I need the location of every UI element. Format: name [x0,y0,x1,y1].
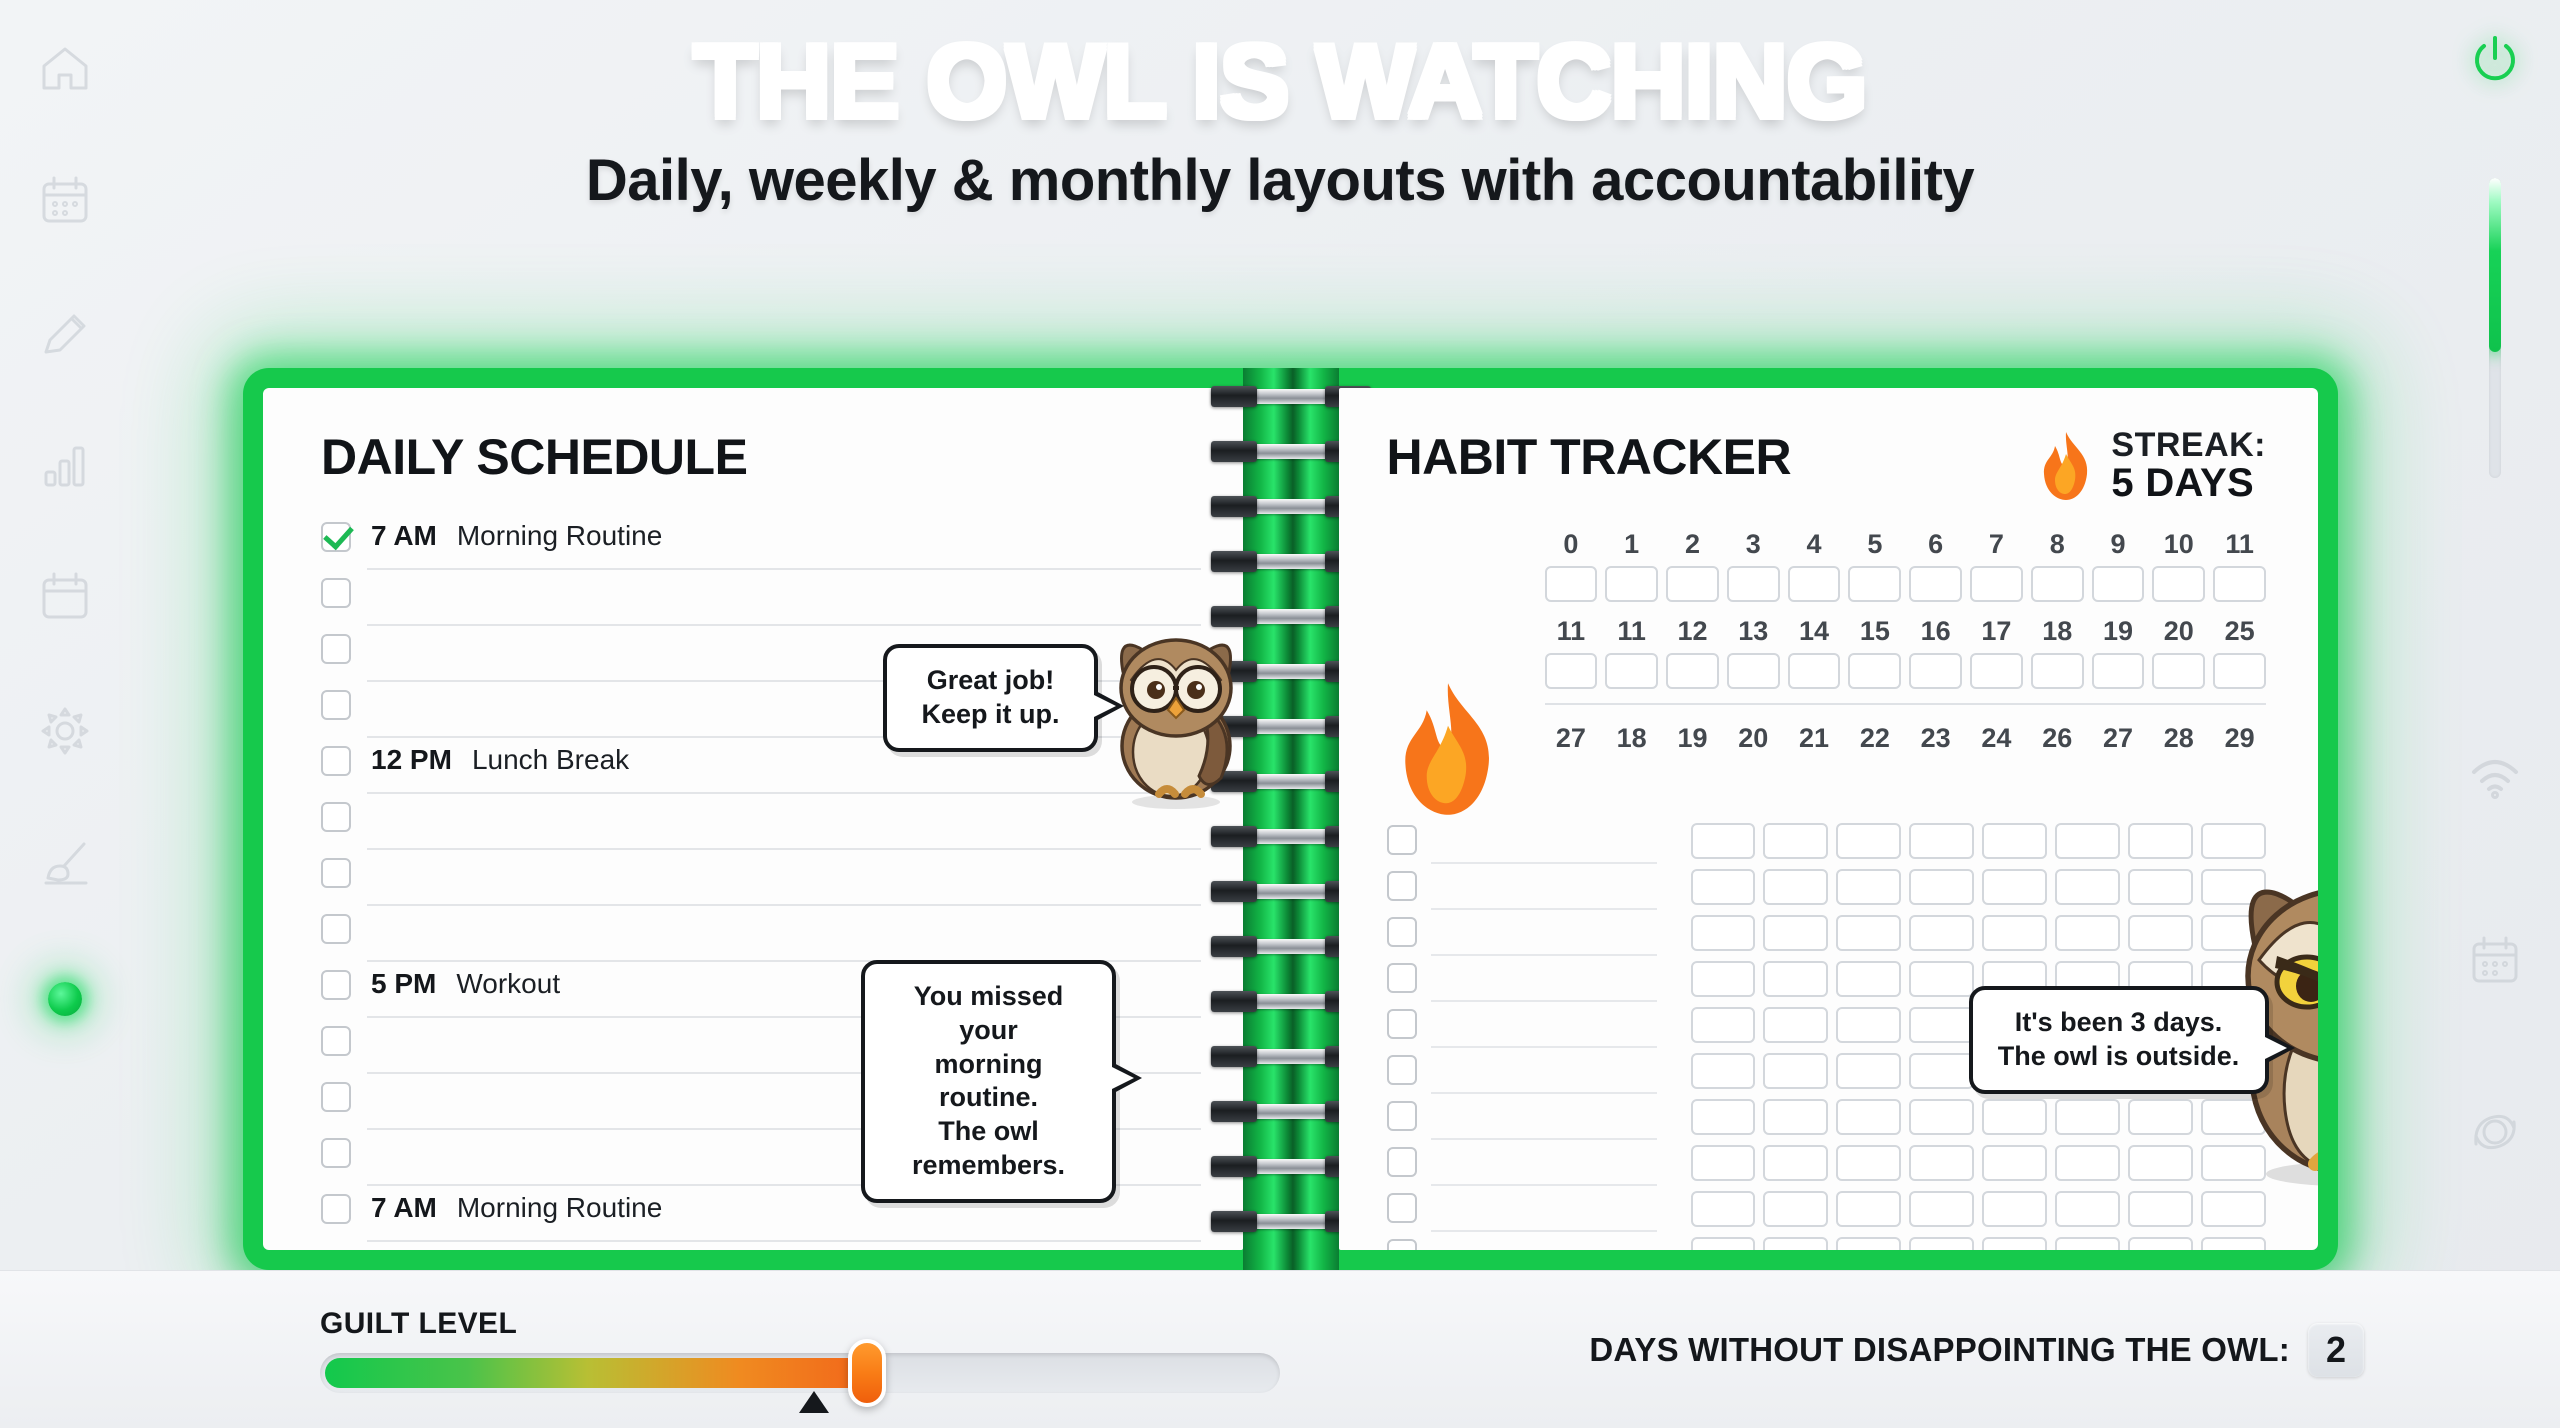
habit-row-checkbox[interactable] [1387,963,1417,993]
habit-checkbox[interactable] [1982,1099,2047,1135]
habit-rule-line [1431,954,1657,956]
habit-checkbox[interactable] [1691,869,1756,905]
habit-checkbox[interactable] [1909,1053,1974,1089]
schedule-task: Morning Routine [457,520,662,552]
habit-checkbox[interactable] [1970,566,2023,602]
habit-day-number: 12 [1666,616,1719,647]
schedule-checkbox[interactable] [321,1026,351,1056]
habit-label-row[interactable] [1387,869,1657,915]
habit-checkbox[interactable] [1909,1237,1974,1250]
schedule-checkbox[interactable] [321,746,351,776]
schedule-row[interactable] [321,576,1201,632]
habit-checkbox[interactable] [1691,1053,1756,1089]
habit-row-checkbox[interactable] [1387,871,1417,901]
schedule-checkbox[interactable] [321,634,351,664]
schedule-row[interactable]: 7 AMMorning Routine [321,520,1201,576]
habit-checkbox[interactable] [1836,915,1901,951]
habit-checkbox[interactable] [2092,566,2145,602]
schedule-task: Workout [456,968,560,1000]
habit-day-number: 7 [1970,529,2023,560]
habit-checkbox[interactable] [1836,823,1901,859]
calendar-icon[interactable] [34,170,96,232]
schedule-checkbox[interactable] [321,690,351,720]
habit-label-row[interactable] [1387,1099,1657,1145]
title-part-1: THE [693,24,926,140]
brush-icon[interactable] [34,830,96,892]
habit-row1-numbers: 01234567891011 [1545,529,2267,560]
schedule-checkbox[interactable] [321,1082,351,1112]
habit-checkbox[interactable] [1848,566,1901,602]
habit-checkbox[interactable] [1605,566,1658,602]
habit-checkbox[interactable] [1545,566,1598,602]
habit-day-number: 13 [1727,616,1780,647]
habit-checkbox[interactable] [2152,566,2205,602]
owl-bubble-scold: You missed your morning routine. The owl… [861,960,1116,1203]
habit-day-number: 20 [2152,616,2205,647]
guilt-slider-marker [799,1391,829,1413]
schedule-checkbox[interactable] [321,1138,351,1168]
habit-day-number: 1 [1605,529,1658,560]
schedule-rule-line [367,792,1201,794]
schedule-rule-line [367,1240,1201,1242]
page-subtitle: Daily, weekly & monthly layouts with acc… [130,147,2430,214]
habit-checkbox[interactable] [2055,823,2120,859]
habit-day-number: 23 [1909,723,1962,754]
habit-checkbox[interactable] [2055,1237,2120,1250]
pencil-icon[interactable] [34,302,96,364]
habit-row-checkbox[interactable] [1387,917,1417,947]
schedule-checkbox[interactable] [321,578,351,608]
habit-rule-line [1431,908,1657,910]
brightness-slider[interactable] [2489,178,2501,478]
habit-checkbox[interactable] [2128,1191,2193,1227]
schedule-rule-line [367,624,1201,626]
habit-day-number: 11 [2213,529,2266,560]
habit-grid-row [1691,915,2267,951]
schedule-rule-line [367,568,1201,570]
habit-checkbox[interactable] [2201,1191,2266,1227]
habit-day-number: 19 [2092,616,2145,647]
habit-checkbox[interactable] [2128,1099,2193,1135]
habit-checkbox[interactable] [1763,1099,1828,1135]
calendar-blank-icon[interactable] [34,566,96,628]
guilt-level-control[interactable]: GUILT LEVEL [320,1307,1280,1393]
guilt-slider-thumb[interactable] [848,1339,886,1407]
habit-day-number: 8 [2031,529,2084,560]
streak-badge: STREAK: 5 DAYS [2035,428,2266,503]
wifi-icon[interactable] [2464,746,2526,808]
habit-checkbox[interactable] [1909,961,1974,997]
habit-checkbox[interactable] [2128,1237,2193,1250]
schedule-checkbox[interactable] [321,802,351,832]
home-icon[interactable] [34,38,96,100]
habit-day-number: 22 [1848,723,1901,754]
habit-day-number: 6 [1909,529,1962,560]
habit-checkbox[interactable] [1982,1237,2047,1250]
habit-checkbox[interactable] [1691,823,1756,859]
habit-row3-numbers: 271819202122232426272829 [1545,723,2267,754]
habit-label-row[interactable] [1387,823,1657,869]
habit-checkbox[interactable] [1763,1237,1828,1250]
habit-day-number: 24 [1970,723,2023,754]
habit-grid-row [1691,1237,2267,1250]
habit-grid-row [1691,869,2267,905]
habit-row-checkbox[interactable] [1387,1101,1417,1131]
brightness-slider-fill [2489,178,2501,352]
schedule-rule-line [367,904,1201,906]
calendar-icon[interactable] [2464,930,2526,992]
habit-divider [1545,703,2267,705]
habit-row1-boxes [1545,566,2267,602]
habit-checkbox[interactable] [2213,566,2266,602]
daily-schedule-page: DAILY SCHEDULE 7 AMMorning Routine12 PML… [263,388,1243,1250]
habit-checkbox[interactable] [2055,869,2120,905]
schedule-checkbox[interactable] [321,858,351,888]
habit-day-number: 25 [2213,616,2266,647]
habit-checkbox[interactable] [1666,653,1719,689]
schedule-checkbox[interactable] [321,1194,351,1224]
habit-checkbox[interactable] [1691,1191,1756,1227]
habit-checkbox[interactable] [1691,1237,1756,1250]
habit-checkbox[interactable] [2128,823,2193,859]
page-title: THE OWL IS WATCHING [130,28,2430,137]
habit-checkbox[interactable] [2128,915,2193,951]
status-led [48,982,82,1016]
left-sidebar [0,0,130,1428]
schedule-time: 7 AM [371,1192,437,1224]
habit-row-checkbox[interactable] [1387,1193,1417,1223]
habit-day-number: 10 [2152,529,2205,560]
schedule-checkbox[interactable] [321,914,351,944]
habit-day-number: 4 [1788,529,1841,560]
schedule-time: 7 AM [371,520,437,552]
habit-day-number: 28 [2152,723,2205,754]
habit-rule-line [1431,1046,1657,1048]
habit-flame-column [1387,529,1509,819]
habit-checkbox[interactable] [1836,1145,1901,1181]
bottom-bar: GUILT LEVEL DAYS WITHOUT DISAPPOINTING T… [0,1270,2560,1428]
habit-grid-row [1691,823,2267,859]
gear-icon[interactable] [34,700,96,762]
habit-checkbox[interactable] [1763,915,1828,951]
days-counter-label: DAYS WITHOUT DISAPPOINTING THE OWL: [1589,1331,2290,1369]
flame-icon-large [1388,679,1508,819]
habit-checkbox[interactable] [1909,1191,1974,1227]
habit-day-number: 29 [2213,723,2266,754]
habit-checkbox[interactable] [2031,566,2084,602]
habit-day-number: 9 [2092,529,2145,560]
habit-label-lines [1387,823,1657,1250]
days-counter-value: 2 [2308,1323,2364,1377]
habit-checkbox[interactable] [1763,1053,1828,1089]
schedule-checkbox[interactable] [321,970,351,1000]
habit-checkbox[interactable] [1982,915,2047,951]
schedule-time: 5 PM [371,968,436,1000]
habit-rule-line [1431,1184,1657,1186]
habit-day-number: 17 [1970,616,2023,647]
habit-checkbox[interactable] [2213,653,2266,689]
habit-checkbox[interactable] [1909,915,1974,951]
habit-rule-line [1431,1138,1657,1140]
habit-checkbox[interactable] [1727,566,1780,602]
habit-day-number: 27 [2092,723,2145,754]
habit-row2-boxes [1545,653,2267,689]
habit-checkbox[interactable] [1909,823,1974,859]
habit-checkbox[interactable] [2055,1145,2120,1181]
habit-checkbox[interactable] [1836,1007,1901,1043]
guilt-slider-fill [325,1358,872,1388]
habit-checkbox[interactable] [1763,1145,1828,1181]
habit-checkbox[interactable] [1909,869,1974,905]
habit-label-row[interactable] [1387,1145,1657,1191]
title-part-2: IS WATCHING [1164,24,1867,140]
habit-checkbox[interactable] [1691,1145,1756,1181]
habit-checkbox[interactable] [2201,1237,2266,1250]
habit-row2-numbers: 111112131415161718192025 [1545,616,2267,647]
schedule-checkbox[interactable] [321,522,351,552]
schedule-row[interactable] [321,1248,1201,1250]
habit-checkbox[interactable] [2128,1145,2193,1181]
habit-checkbox[interactable] [1982,1145,2047,1181]
habit-tracker-page: HABIT TRACKER STREAK: 5 DAYS [1339,388,2319,1250]
habit-checkbox[interactable] [1836,961,1901,997]
days-counter: DAYS WITHOUT DISAPPOINTING THE OWL: 2 [1589,1323,2364,1377]
owl-bubble-warning: It's been 3 days. The owl is outside. [1969,986,2269,1094]
schedule-row[interactable]: 12 PMLunch Break [321,744,1201,800]
habit-checkbox[interactable] [1727,653,1780,689]
habit-row-checkbox[interactable] [1387,1055,1417,1085]
habit-checkbox[interactable] [1909,1145,1974,1181]
habit-checkbox[interactable] [2201,823,2266,859]
habit-row-checkbox[interactable] [1387,825,1417,855]
habit-day-number: 27 [1545,723,1598,754]
habit-grid-row [1691,1099,2267,1135]
habit-row-checkbox[interactable] [1387,1009,1417,1039]
habit-checkbox[interactable] [1763,1191,1828,1227]
habit-checkbox[interactable] [2055,1099,2120,1135]
habit-checkbox[interactable] [2055,1191,2120,1227]
schedule-rule-line [367,848,1201,850]
schedule-row[interactable] [321,800,1201,856]
habit-checkbox[interactable] [1848,653,1901,689]
habit-row-checkbox[interactable] [1387,1147,1417,1177]
habit-day-number: 11 [1545,616,1598,647]
habit-checkbox[interactable] [1836,1191,1901,1227]
habit-day-number: 18 [1605,723,1658,754]
header: THE OWL IS WATCHING Daily, weekly & mont… [130,0,2430,214]
habit-day-number: 18 [2031,616,2084,647]
habit-label-row[interactable] [1387,915,1657,961]
habit-checkbox[interactable] [1982,1191,2047,1227]
habit-checkbox[interactable] [1691,915,1756,951]
habit-rule-line [1431,862,1657,864]
habit-checkbox[interactable] [1666,566,1719,602]
habit-checkbox[interactable] [2055,915,2120,951]
habit-checkbox[interactable] [1691,1099,1756,1135]
habit-label-row[interactable] [1387,961,1657,1007]
habit-checkbox[interactable] [1836,1099,1901,1135]
habit-day-number: 20 [1727,723,1780,754]
habit-day-number: 11 [1605,616,1658,647]
notebook: DAILY SCHEDULE 7 AMMorning Routine12 PML… [243,368,2338,1270]
habit-checkbox[interactable] [1836,1237,1901,1250]
habit-checkbox[interactable] [1605,653,1658,689]
habit-checkbox[interactable] [1788,653,1841,689]
camera-icon[interactable] [2464,1100,2526,1162]
schedule-time: 12 PM [371,744,452,776]
guilt-slider-track[interactable] [320,1353,1280,1393]
habit-checkbox[interactable] [2128,869,2193,905]
habit-checkbox[interactable] [1970,653,2023,689]
habit-checkbox[interactable] [1982,869,2047,905]
habit-day-number: 14 [1788,616,1841,647]
habit-grid: 01234567891011 111112131415161718192025 … [1545,529,2267,819]
flame-icon [2035,430,2097,502]
bar-chart-icon[interactable] [34,434,96,496]
habit-checkbox[interactable] [1836,869,1901,905]
habit-day-number: 16 [1909,616,1962,647]
habit-label-row[interactable] [1387,1191,1657,1237]
habit-tracker-body: 01234567891011 111112131415161718192025 … [1387,529,2267,819]
habit-checkbox[interactable] [1691,961,1756,997]
schedule-row[interactable] [321,856,1201,912]
habit-checkbox[interactable] [1763,869,1828,905]
habit-checkbox[interactable] [1788,566,1841,602]
habit-day-number: 26 [2031,723,2084,754]
habit-checkbox[interactable] [2152,653,2205,689]
habit-tracker-title: HABIT TRACKER [1387,428,1792,486]
habit-day-number: 19 [1666,723,1719,754]
habit-checkbox[interactable] [1763,1007,1828,1043]
habit-rule-line [1431,1230,1657,1232]
habit-checkbox[interactable] [2031,653,2084,689]
guilt-level-label: GUILT LEVEL [320,1307,1280,1341]
schedule-task: Morning Routine [457,1192,662,1224]
habit-checkbox[interactable] [1982,823,2047,859]
habit-grid-row [1691,1145,2267,1181]
habit-grid-row [1691,1191,2267,1227]
streak-value: 5 DAYS [2111,463,2266,504]
habit-day-number: 2 [1666,529,1719,560]
habit-day-number: 21 [1788,723,1841,754]
habit-checkbox[interactable] [1909,1007,1974,1043]
daily-schedule-header: DAILY SCHEDULE [321,428,1201,486]
habit-day-number: 3 [1727,529,1780,560]
title-highlight: OWL [926,24,1164,140]
habit-checkbox[interactable] [1909,566,1962,602]
habit-tracker-header: HABIT TRACKER STREAK: 5 DAYS [1387,428,2267,503]
owl-bubble-praise: Great job! Keep it up. [883,644,1098,752]
habit-rule-line [1431,1092,1657,1094]
habit-checkbox[interactable] [1763,823,1828,859]
habit-day-number: 5 [1848,529,1901,560]
habit-checkbox[interactable] [2092,653,2145,689]
habit-checkbox[interactable] [1909,653,1962,689]
habit-day-number: 15 [1848,616,1901,647]
habit-day-number: 0 [1545,529,1598,560]
habit-checkbox[interactable] [1909,1099,1974,1135]
daily-schedule-title: DAILY SCHEDULE [321,428,747,486]
habit-checkbox[interactable] [1691,1007,1756,1043]
habit-label-row[interactable] [1387,1237,1657,1250]
habit-label-row[interactable] [1387,1053,1657,1099]
habit-checkbox[interactable] [1763,961,1828,997]
habit-rule-line [1431,1000,1657,1002]
habit-label-row[interactable] [1387,1007,1657,1053]
streak-label: STREAK: [2111,428,2266,463]
schedule-task: Lunch Break [472,744,629,776]
habit-row-checkbox[interactable] [1387,1239,1417,1250]
power-icon[interactable] [2464,28,2526,90]
right-sidebar [2430,0,2560,1428]
habit-checkbox[interactable] [1836,1053,1901,1089]
habit-checkbox[interactable] [1545,653,1598,689]
